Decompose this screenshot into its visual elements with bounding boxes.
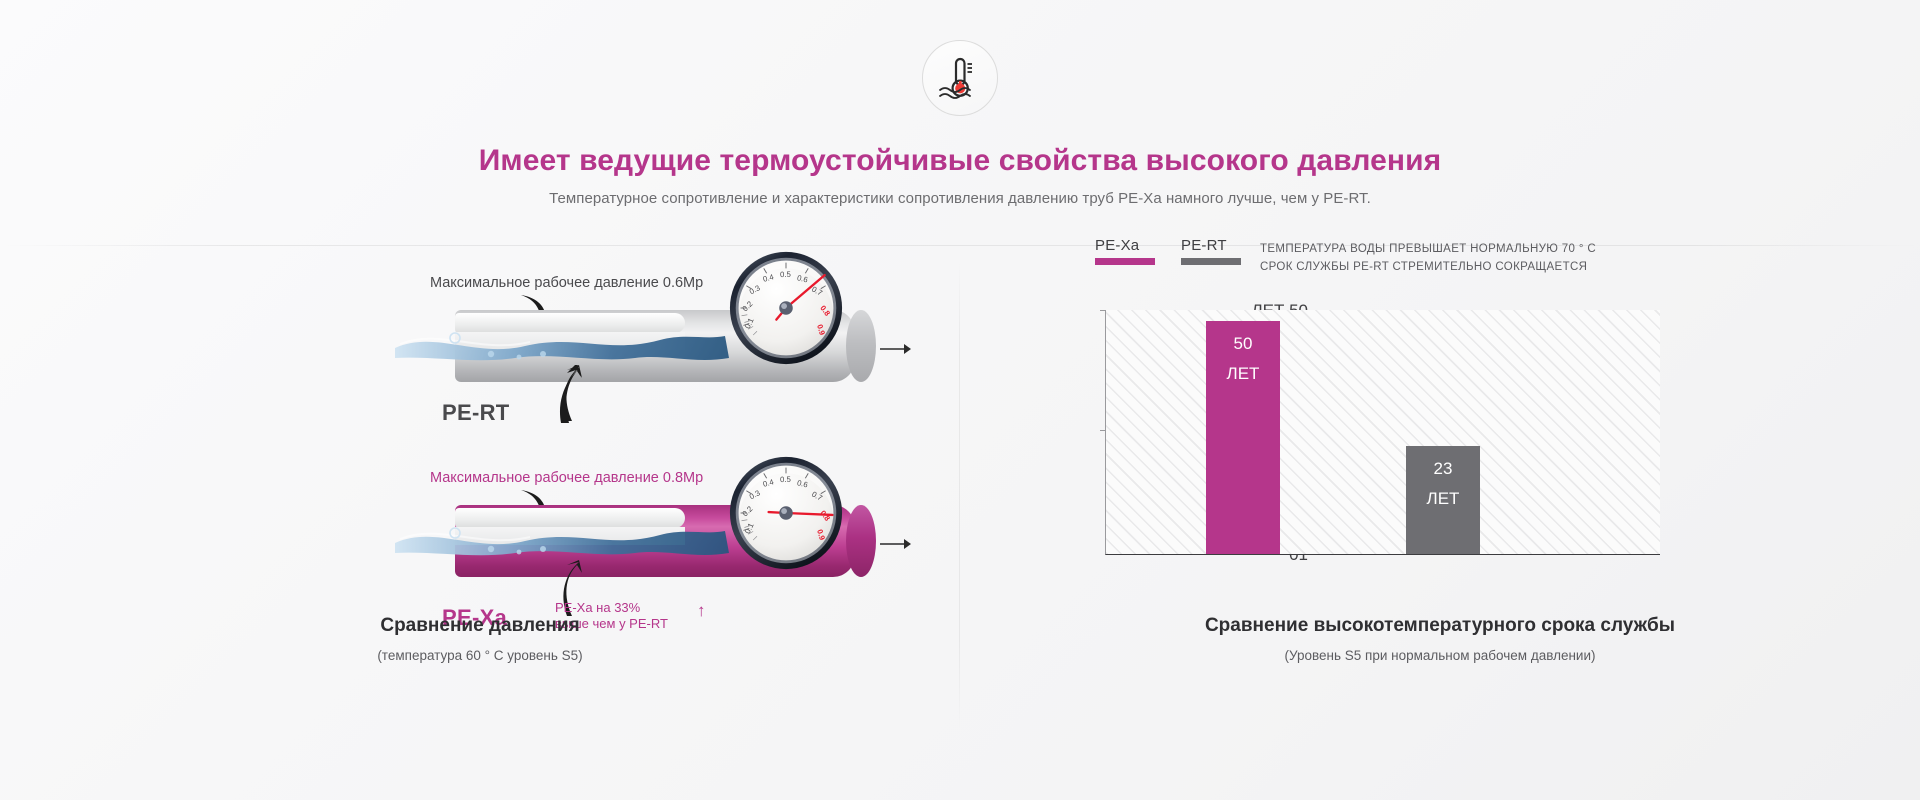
legend-item-pexa: PE-Xa — [1095, 237, 1155, 265]
chart-annotation-line1: ТЕМПЕРАТУРА ВОДЫ ПРЕВЫШАЕТ НОРМАЛЬНУЮ 70… — [1260, 240, 1596, 258]
legend-item-pert: PE-RT — [1181, 237, 1241, 265]
bar-pert[interactable]: 23 ЛЕТ — [1406, 446, 1480, 554]
chart-annotation-line2: СРОК СЛУЖБЫ PE-RT СТРЕМИТЕЛЬНО СОКРАЩАЕТ… — [1260, 258, 1596, 276]
legend-label-pexa: PE-Xa — [1095, 237, 1155, 254]
legend-swatch-pert — [1181, 258, 1241, 265]
chart-annotation: ТЕМПЕРАТУРА ВОДЫ ПРЕВЫШАЕТ НОРМАЛЬНУЮ 70… — [1260, 240, 1596, 276]
flow-arrow-pert-icon — [880, 341, 912, 357]
legend-swatch-pexa — [1095, 258, 1155, 265]
pressure-label-pert: Максимальное рабочее давление 0.6Mp — [430, 275, 703, 291]
thermometer-water-icon — [922, 40, 998, 116]
content-area: Максимальное рабочее давление 0.6Mp — [0, 255, 1920, 725]
y-tick-50 — [1100, 310, 1106, 311]
lifespan-bar-chart: PE-Xa PE-RT ТЕМПЕРАТУРА ВОДЫ ПРЕВЫШАЕТ Н… — [960, 255, 1920, 675]
header-divider — [0, 245, 1920, 246]
pipe-diagram-pert: Максимальное рабочее давление 0.6Mp — [0, 275, 960, 465]
right-caption-sub: (Уровень S5 при нормальном рабочем давле… — [960, 648, 1920, 663]
y-tick-25 — [1100, 430, 1106, 431]
uplift-note-line1: PE-Xa на 33% — [555, 600, 668, 616]
chart-plot-area: 50 ЛЕТ 23 ЛЕТ — [1105, 310, 1660, 555]
page-header: Имеет ведущие термоустойчивые свойства в… — [0, 0, 1920, 207]
water-flow-pert — [395, 324, 735, 364]
right-caption: Сравнение высокотемпературного срока слу… — [960, 615, 1920, 663]
chart-legend: PE-Xa PE-RT — [1095, 237, 1241, 265]
flow-arrow-pexa-icon — [880, 536, 912, 552]
right-caption-title: Сравнение высокотемпературного срока слу… — [960, 615, 1920, 637]
svg-text:0.5: 0.5 — [780, 475, 791, 484]
water-flow-pexa — [395, 519, 735, 559]
svg-text:0.5: 0.5 — [780, 270, 791, 279]
bar-pert-value: 23 — [1434, 454, 1453, 484]
pipe-label-pert: PE-RT — [442, 400, 510, 426]
callout-arrow-pert-bottom — [545, 365, 589, 425]
pressure-label-pexa: Максимальное рабочее давление 0.8Mp — [430, 470, 703, 486]
pressure-gauge-pexa: 0.1 0.2 0.3 0.4 0.5 0.6 0.7 0.8 0.9 — [728, 455, 844, 571]
left-caption-title: Сравнение давления — [0, 615, 960, 637]
page-title: Имеет ведущие термоустойчивые свойства в… — [0, 144, 1920, 178]
bar-pexa[interactable]: 50 ЛЕТ — [1206, 321, 1280, 554]
lifespan-comparison-panel: PE-Xa PE-RT ТЕМПЕРАТУРА ВОДЫ ПРЕВЫШАЕТ Н… — [960, 255, 1920, 725]
pressure-gauge-pert: 0.1 0.2 0.3 0.4 0.5 0.6 0.7 0.8 0.9 — [728, 250, 844, 366]
page-subtitle: Температурное сопротивление и характерис… — [0, 190, 1920, 207]
bar-pexa-unit: ЛЕТ — [1227, 359, 1260, 389]
left-caption-sub: (температура 60 ° С уровень S5) — [0, 648, 960, 663]
left-caption: Сравнение давления (температура 60 ° С у… — [0, 615, 960, 663]
bar-pert-unit: ЛЕТ — [1427, 484, 1460, 514]
bar-pexa-value: 50 — [1234, 329, 1253, 359]
pressure-comparison-panel: Максимальное рабочее давление 0.6Mp — [0, 255, 960, 725]
legend-label-pert: PE-RT — [1181, 237, 1241, 254]
